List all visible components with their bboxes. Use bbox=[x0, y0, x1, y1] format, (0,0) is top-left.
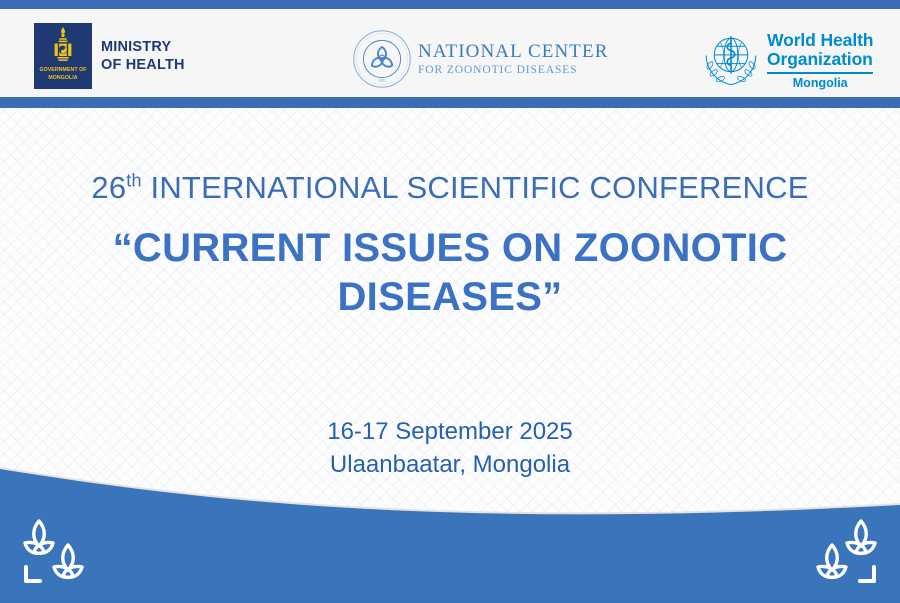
who-logo: World Health Organization Mongolia bbox=[700, 27, 873, 90]
nczd-name: NATIONAL CENTER FOR ZOONOTIC DISEASES bbox=[418, 42, 608, 77]
national-center-zoonotic-diseases-logo: 1951 NATIONAL CENTER FOR ZOONOTIC DISEAS… bbox=[352, 29, 608, 89]
ministry-name-line1: MINISTRY bbox=[101, 38, 185, 56]
conference-heading: 26th INTERNATIONAL SCIENTIFIC CONFERENCE bbox=[0, 170, 900, 206]
conference-ordinal: th bbox=[126, 171, 141, 191]
header-divider-bar bbox=[0, 97, 900, 108]
who-country-label: Mongolia bbox=[767, 76, 873, 90]
bottom-wave-decoration bbox=[0, 455, 900, 603]
emblem-caption-line1: GOVERNMENT OF bbox=[39, 67, 86, 74]
logo-row: GOVERNMENT OF MONGOLIA MINISTRY OF HEALT… bbox=[0, 9, 900, 97]
nczd-name-line2: FOR ZOONOTIC DISEASES bbox=[418, 64, 608, 76]
nczd-seal-icon: 1951 bbox=[352, 29, 412, 89]
who-name-line2: Organization bbox=[767, 50, 873, 69]
ornament-right bbox=[804, 517, 884, 589]
conference-theme: “CURRENT ISSUES ON ZOONOTIC DISEASES” bbox=[0, 224, 900, 322]
ministry-of-health-name: MINISTRY OF HEALTH bbox=[101, 38, 185, 74]
ministry-name-line2: OF HEALTH bbox=[101, 56, 185, 74]
who-emblem-icon bbox=[700, 27, 762, 89]
mongolian-knot-icon bbox=[804, 517, 884, 589]
nczd-seal-year: 1951 bbox=[378, 78, 386, 83]
emblem-caption-line2: MONGOLIA bbox=[48, 75, 77, 82]
who-name-line1: World Health bbox=[767, 31, 873, 50]
ornament-left bbox=[16, 517, 96, 589]
ministry-of-health-logo: GOVERNMENT OF MONGOLIA MINISTRY OF HEALT… bbox=[34, 23, 185, 89]
top-accent-bar bbox=[0, 0, 900, 9]
title-block: 26th INTERNATIONAL SCIENTIFIC CONFERENCE… bbox=[0, 170, 900, 322]
who-divider-rule bbox=[767, 72, 873, 74]
conference-number: 26 bbox=[91, 170, 126, 205]
mongolia-state-emblem-icon: GOVERNMENT OF MONGOLIA bbox=[34, 23, 92, 89]
who-wordmark: World Health Organization Mongolia bbox=[767, 27, 873, 90]
event-date: 16-17 September 2025 bbox=[0, 415, 900, 448]
conference-title-slide: GOVERNMENT OF MONGOLIA MINISTRY OF HEALT… bbox=[0, 0, 900, 603]
nczd-name-line1: NATIONAL CENTER bbox=[418, 42, 608, 62]
conference-heading-text: INTERNATIONAL SCIENTIFIC CONFERENCE bbox=[142, 170, 809, 205]
mongolian-knot-icon bbox=[16, 517, 96, 589]
